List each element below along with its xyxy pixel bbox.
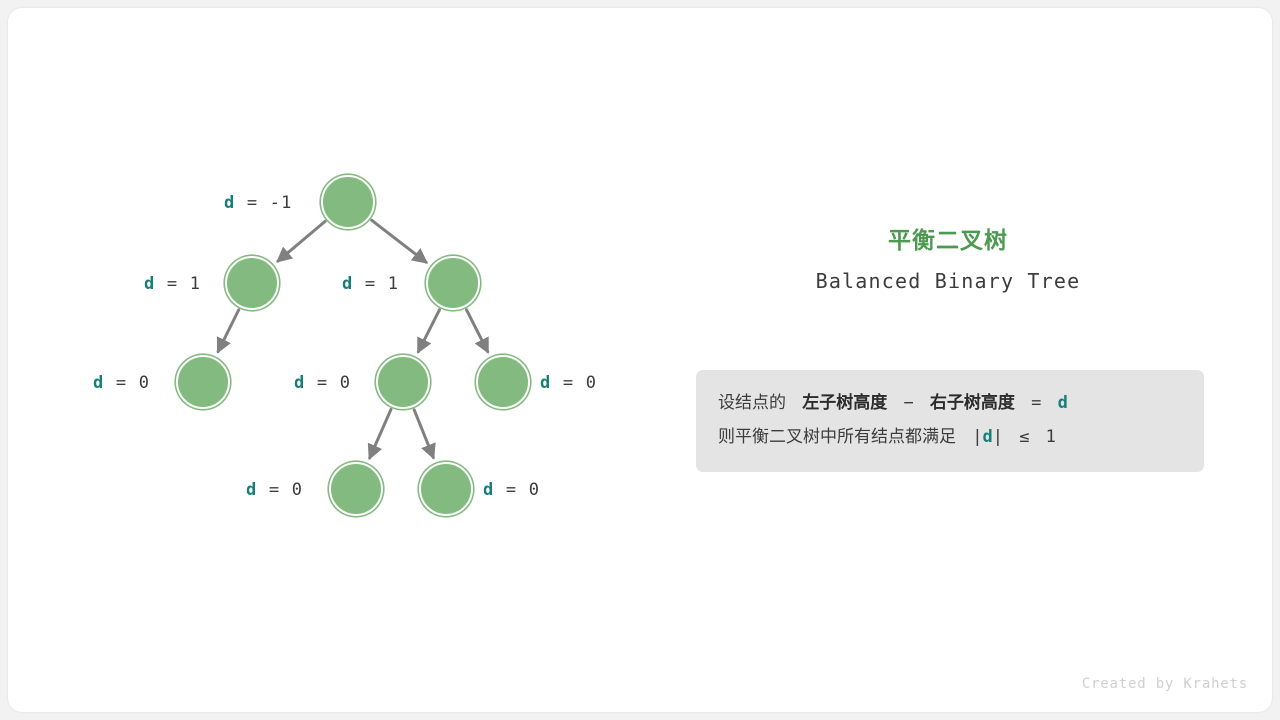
node-balance-label-n-ll: d = 0	[93, 375, 150, 392]
node-label-value: = -1	[235, 193, 292, 213]
formula-prefix: 设结点的	[718, 393, 786, 413]
binary-tree-diagram: d = -1d = 1d = 1d = 0d = 0d = 0d = 0d = …	[0, 0, 680, 720]
abs-bar-open: |	[972, 427, 982, 447]
node-balance-label-n-r: d = 1	[342, 276, 399, 293]
diagram-canvas: d = -1d = 1d = 1d = 0d = 0d = 0d = 0d = …	[0, 0, 1280, 720]
tree-edges-layer	[0, 0, 680, 720]
tree-node-n-rll[interactable]	[329, 462, 383, 516]
tree-node-root[interactable]	[321, 175, 375, 229]
tree-node-n-r[interactable]	[426, 256, 480, 310]
footer-credit: Created by Krahets	[1082, 676, 1248, 692]
node-label-variable: d	[224, 193, 235, 213]
formula-line-2: 则平衡二叉树中所有结点都满足 |d| ≤ 1	[718, 420, 1182, 454]
node-label-value: = 0	[494, 480, 540, 500]
node-label-value: = 0	[551, 373, 597, 393]
abs-bar-close: |	[993, 427, 1003, 447]
node-balance-label-n-rr: d = 0	[540, 375, 597, 392]
formula-relation-operator: ≤	[1019, 427, 1029, 447]
formula-term-right-subtree-height: 右子树高度	[930, 393, 1015, 413]
tree-node-n-rr[interactable]	[476, 355, 530, 409]
tree-edge	[370, 409, 391, 457]
node-label-variable: d	[483, 480, 494, 500]
info-panel: 平衡二叉树 Balanced Binary Tree 设结点的 左子树高度 − …	[696, 0, 1216, 720]
node-label-value: = 1	[353, 274, 399, 294]
formula-variable-d: d	[1058, 393, 1068, 413]
tree-node-n-ll[interactable]	[176, 355, 230, 409]
panel-title-english: Balanced Binary Tree	[696, 268, 1200, 294]
formula-box: 设结点的 左子树高度 − 右子树高度 = d 则平衡二叉树中所有结点都满足 |d…	[696, 370, 1204, 472]
node-balance-label-n-l: d = 1	[144, 276, 201, 293]
panel-title-chinese: 平衡二叉树	[696, 228, 1200, 256]
node-label-variable: d	[342, 274, 353, 294]
node-label-variable: d	[294, 373, 305, 393]
tree-node-n-rl[interactable]	[376, 355, 430, 409]
formula-equals-operator: =	[1031, 393, 1041, 413]
formula-variable-d-abs: d	[982, 427, 992, 447]
formula-minus-operator: −	[903, 393, 913, 413]
formula-condition-prefix: 则平衡二叉树中所有结点都满足	[718, 427, 956, 447]
node-balance-label-n-rl: d = 0	[294, 375, 351, 392]
node-label-variable: d	[93, 373, 104, 393]
tree-edge	[218, 310, 239, 352]
node-label-variable: d	[144, 274, 155, 294]
node-balance-label-n-rlr: d = 0	[483, 482, 540, 499]
node-label-value: = 1	[155, 274, 201, 294]
tree-node-n-rlr[interactable]	[419, 462, 473, 516]
tree-edge	[414, 410, 433, 458]
formula-term-left-subtree-height: 左子树高度	[802, 393, 887, 413]
formula-bound-value: 1	[1046, 427, 1056, 447]
tree-edge	[467, 310, 488, 352]
tree-edge	[278, 221, 325, 261]
formula-line-1: 设结点的 左子树高度 − 右子树高度 = d	[718, 386, 1182, 420]
node-balance-label-root: d = -1	[224, 195, 293, 212]
node-label-value: = 0	[104, 373, 150, 393]
node-label-value: = 0	[305, 373, 351, 393]
tree-edge	[418, 310, 439, 352]
node-label-value: = 0	[257, 480, 303, 500]
tree-edge	[372, 220, 426, 262]
node-label-variable: d	[246, 480, 257, 500]
tree-node-n-l[interactable]	[225, 256, 279, 310]
node-balance-label-n-rll: d = 0	[246, 482, 303, 499]
node-label-variable: d	[540, 373, 551, 393]
